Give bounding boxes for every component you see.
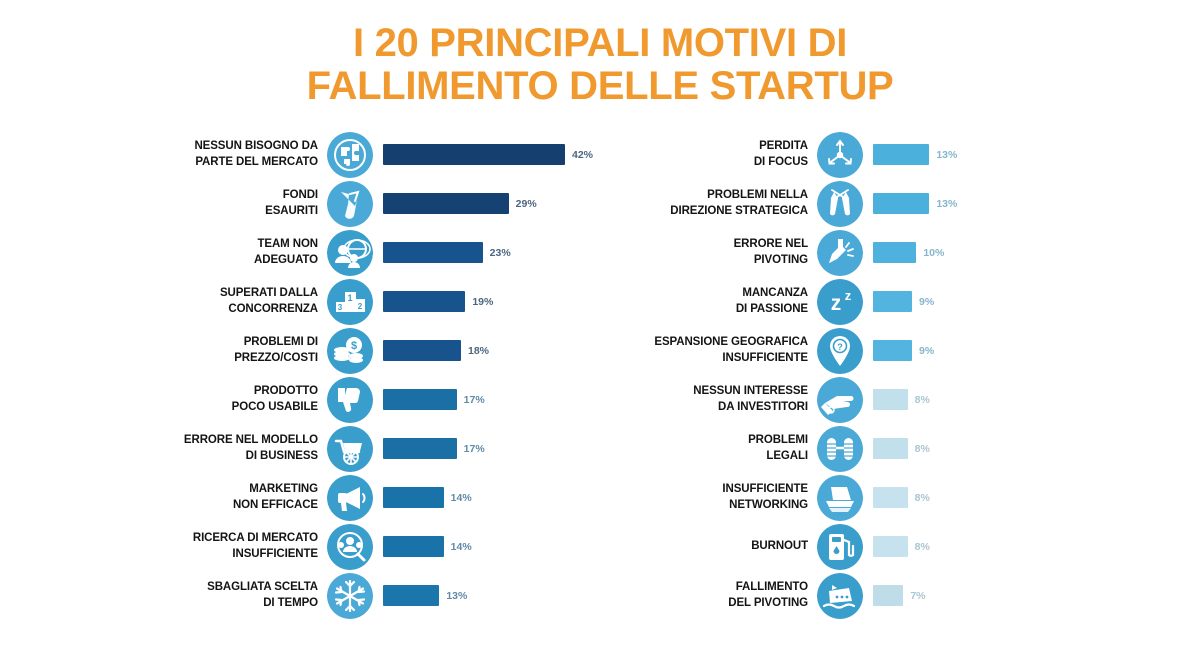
chart-columns: NESSUN BISOGNO DAPARTE DEL MERCATO42%FON… <box>0 130 1200 620</box>
bar <box>873 536 908 557</box>
row-label-line: PROBLEMI NELLA <box>628 188 808 203</box>
bar <box>873 487 908 508</box>
row-label-line: ERRORE NEL MODELLO <box>168 433 318 448</box>
row-label: ERRORE NEL MODELLODI BUSINESS <box>168 433 327 463</box>
bar-value-label: 13% <box>936 198 957 210</box>
row-label-line: SBAGLIATA SCELTA <box>168 580 318 595</box>
row-label: SBAGLIATA SCELTADI TEMPO <box>168 580 327 610</box>
magnifier-crowd-icon <box>327 524 373 570</box>
chart-row: ERRORE NEL MODELLODI BUSINESS17% <box>0 424 600 473</box>
row-label-line: PRODOTTO <box>168 384 318 399</box>
chart-row: SBAGLIATA SCELTADI TEMPO13% <box>0 571 600 620</box>
bar-value-label: 13% <box>446 590 467 602</box>
row-label-line: DA INVESTITORI <box>628 400 808 415</box>
page-title: I 20 PRINCIPALI MOTIVI DI FALLIMENTO DEL… <box>0 22 1200 108</box>
bar <box>383 340 461 361</box>
bar <box>873 585 903 606</box>
bar-value-label: 29% <box>516 198 537 210</box>
empty-hand-coin-icon <box>817 377 863 423</box>
svg-text:z: z <box>831 292 842 315</box>
row-label-line: PERDITA <box>628 139 808 154</box>
chart-row: FALLIMENTODEL PIVOTING7% <box>600 571 1200 620</box>
svg-text:3: 3 <box>338 303 343 312</box>
bar-value-label: 42% <box>572 149 593 161</box>
bar <box>383 144 565 165</box>
bar <box>383 536 444 557</box>
bar <box>873 438 908 459</box>
bar-wrap: 19% <box>383 291 600 312</box>
row-label-line: ADEGUATO <box>168 253 318 268</box>
row-label: RICERCA DI MERCATOINSUFFICIENTE <box>168 531 327 561</box>
svg-text:1: 1 <box>347 293 352 303</box>
chart-row: PROBLEMI NELLADIREZIONE STRATEGICA13% <box>600 179 1200 228</box>
chart-row: ESPANSIONE GEOGRAFICAINSUFFICIENTE?9% <box>600 326 1200 375</box>
bar-value-label: 23% <box>490 247 511 259</box>
bar <box>383 389 457 410</box>
row-label: PROBLEMI NELLADIREZIONE STRATEGICA <box>628 188 817 218</box>
row-label: MARKETINGNON EFFICACE <box>168 482 327 512</box>
row-label: FALLIMENTODEL PIVOTING <box>628 580 817 610</box>
row-label-line: ESPANSIONE GEOGRAFICA <box>628 335 808 350</box>
bar-wrap: 18% <box>383 340 600 361</box>
row-label-line: PROBLEMI DI <box>168 335 318 350</box>
bar-value-label: 17% <box>464 443 485 455</box>
bar-wrap: 17% <box>383 389 600 410</box>
crossed-oars-icon <box>817 181 863 227</box>
chart-row: RICERCA DI MERCATOINSUFFICIENTE14% <box>0 522 600 571</box>
row-label-line: DEL PIVOTING <box>628 596 808 611</box>
row-label-line: PROBLEMI <box>628 433 808 448</box>
bar-wrap: 14% <box>383 487 600 508</box>
snowflake-icon <box>327 573 373 619</box>
chart-row: PRODOTTOPOCO USABILE17% <box>0 375 600 424</box>
bar <box>873 242 916 263</box>
fuel-pump-icon <box>817 524 863 570</box>
bar-value-label: 8% <box>915 394 930 406</box>
row-label-line: INSUFFICIENTE <box>168 547 318 562</box>
bar-wrap: 8% <box>873 536 1200 557</box>
bar <box>383 585 439 606</box>
bar <box>383 242 483 263</box>
bar-wrap: 8% <box>873 438 1200 459</box>
bar <box>873 291 912 312</box>
bar-value-label: 17% <box>464 394 485 406</box>
bar-value-label: 13% <box>936 149 957 161</box>
sinking-ship-icon <box>817 573 863 619</box>
row-label: FONDIESAURITI <box>168 188 327 218</box>
row-label-line: ESAURITI <box>168 204 318 219</box>
row-label-line: FALLIMENTO <box>628 580 808 595</box>
podium-icon: 123 <box>327 279 373 325</box>
coins-dollar-icon: $ <box>327 328 373 374</box>
row-label-line: DI BUSINESS <box>168 449 318 464</box>
row-label-line: POCO USABILE <box>168 400 318 415</box>
chart-row: ERRORE NELPIVOTING10% <box>600 228 1200 277</box>
closed-laptop-icon <box>817 475 863 521</box>
bar-wrap: 14% <box>383 536 600 557</box>
row-label-line: NON EFFICACE <box>168 498 318 513</box>
svg-text:z: z <box>845 288 852 303</box>
chart-row: TEAM NONADEGUATO23% <box>0 228 600 277</box>
row-label: BURNOUT <box>628 539 817 554</box>
svg-text:$: $ <box>351 340 357 352</box>
chart-row: MANCANZADI PASSIONEzz9% <box>600 277 1200 326</box>
row-label-line: MARKETING <box>168 482 318 497</box>
bar-wrap: 8% <box>873 487 1200 508</box>
bar <box>873 193 929 214</box>
row-label: NESSUN INTERESSEDA INVESTITORI <box>628 384 817 414</box>
row-label-line: PREZZO/COSTI <box>168 351 318 366</box>
chart-row: PROBLEMI DIPREZZO/COSTI$18% <box>0 326 600 375</box>
row-label-line: DI TEMPO <box>168 596 318 611</box>
chart-column-right: PERDITADI FOCUS13%PROBLEMI NELLADIREZION… <box>600 130 1200 620</box>
bar-wrap: 23% <box>383 242 600 263</box>
chart-row: FONDIESAURITI29% <box>0 179 600 228</box>
bar-wrap: 29% <box>383 193 600 214</box>
row-label-line: NESSUN INTERESSE <box>628 384 808 399</box>
scatter-arrows-icon <box>817 132 863 178</box>
megaphone-icon <box>327 475 373 521</box>
map-pin-question-icon: ? <box>817 328 863 374</box>
bar-value-label: 8% <box>915 443 930 455</box>
title-line-2: FALLIMENTO DELLE STARTUP <box>0 65 1200 108</box>
row-label-line: NESSUN BISOGNO DA <box>168 139 318 154</box>
chart-row: PERDITADI FOCUS13% <box>600 130 1200 179</box>
chart-row: MARKETINGNON EFFICACE14% <box>0 473 600 522</box>
bar <box>383 487 444 508</box>
bar-wrap: 13% <box>873 193 1200 214</box>
bar <box>383 438 457 459</box>
bar <box>873 389 908 410</box>
row-label: ESPANSIONE GEOGRAFICAINSUFFICIENTE <box>628 335 817 365</box>
chart-row: NESSUN BISOGNO DAPARTE DEL MERCATO42% <box>0 130 600 179</box>
bar-value-label: 18% <box>468 345 489 357</box>
row-label-line: LEGALI <box>628 449 808 464</box>
row-label-line: TEAM NON <box>168 237 318 252</box>
svg-text:2: 2 <box>358 302 363 311</box>
row-label-line: INSUFFICIENTE <box>628 482 808 497</box>
bar-value-label: 10% <box>923 247 944 259</box>
row-label-line: ERRORE NEL <box>628 237 808 252</box>
chart-column-left: NESSUN BISOGNO DAPARTE DEL MERCATO42%FON… <box>0 130 600 620</box>
row-label: MANCANZADI PASSIONE <box>628 286 817 316</box>
team-globe-icon <box>327 230 373 276</box>
row-label: SUPERATI DALLACONCORRENZA <box>168 286 327 316</box>
bar <box>383 291 465 312</box>
bar <box>873 340 912 361</box>
globe-puzzle-icon <box>327 132 373 178</box>
row-label-line: PIVOTING <box>628 253 808 268</box>
row-label: PRODOTTOPOCO USABILE <box>168 384 327 414</box>
broken-cart-icon <box>327 426 373 472</box>
chart-row: INSUFFICIENTENETWORKING8% <box>600 473 1200 522</box>
bar-wrap: 42% <box>383 144 600 165</box>
row-label: INSUFFICIENTENETWORKING <box>628 482 817 512</box>
sleeping-zzz-icon: zz <box>817 279 863 325</box>
svg-text:?: ? <box>837 342 843 352</box>
row-label-line: SUPERATI DALLA <box>168 286 318 301</box>
bar-wrap: 10% <box>873 242 1200 263</box>
bar-wrap: 9% <box>873 340 1200 361</box>
row-label: PROBLEMILEGALI <box>628 433 817 463</box>
handcuffs-icon <box>817 426 863 472</box>
row-label-line: MANCANZA <box>628 286 808 301</box>
row-label: TEAM NONADEGUATO <box>168 237 327 267</box>
row-label-line: FONDI <box>168 188 318 203</box>
bar-value-label: 9% <box>919 296 934 308</box>
title-line-1: I 20 PRINCIPALI MOTIVI DI <box>0 22 1200 65</box>
chart-row: SUPERATI DALLACONCORRENZA12319% <box>0 277 600 326</box>
row-label-line: DI PASSIONE <box>628 302 808 317</box>
row-label-line: BURNOUT <box>628 539 808 554</box>
bar-value-label: 9% <box>919 345 934 357</box>
row-label-line: DIREZIONE STRATEGICA <box>628 204 808 219</box>
bar-value-label: 19% <box>472 296 493 308</box>
bar-wrap: 7% <box>873 585 1200 606</box>
row-label-line: DI FOCUS <box>628 155 808 170</box>
bar-value-label: 7% <box>910 590 925 602</box>
empty-wallet-icon <box>327 181 373 227</box>
bar-value-label: 14% <box>451 541 472 553</box>
row-label: ERRORE NELPIVOTING <box>628 237 817 267</box>
bar-value-label: 8% <box>915 492 930 504</box>
bar-value-label: 14% <box>451 492 472 504</box>
row-label-line: PARTE DEL MERCATO <box>168 155 318 170</box>
bar <box>383 193 509 214</box>
bar <box>873 144 929 165</box>
pencil-break-icon <box>817 230 863 276</box>
bar-wrap: 13% <box>873 144 1200 165</box>
infographic-root: I 20 PRINCIPALI MOTIVI DI FALLIMENTO DEL… <box>0 0 1200 650</box>
row-label-line: RICERCA DI MERCATO <box>168 531 318 546</box>
row-label: PERDITADI FOCUS <box>628 139 817 169</box>
row-label-line: CONCORRENZA <box>168 302 318 317</box>
row-label: PROBLEMI DIPREZZO/COSTI <box>168 335 327 365</box>
row-label-line: NETWORKING <box>628 498 808 513</box>
bar-wrap: 17% <box>383 438 600 459</box>
thumbs-down-icon <box>327 377 373 423</box>
row-label-line: INSUFFICIENTE <box>628 351 808 366</box>
chart-row: PROBLEMILEGALI8% <box>600 424 1200 473</box>
bar-wrap: 8% <box>873 389 1200 410</box>
bar-wrap: 9% <box>873 291 1200 312</box>
bar-wrap: 13% <box>383 585 600 606</box>
chart-row: NESSUN INTERESSEDA INVESTITORI8% <box>600 375 1200 424</box>
row-label: NESSUN BISOGNO DAPARTE DEL MERCATO <box>168 139 327 169</box>
chart-row: BURNOUT8% <box>600 522 1200 571</box>
bar-value-label: 8% <box>915 541 930 553</box>
